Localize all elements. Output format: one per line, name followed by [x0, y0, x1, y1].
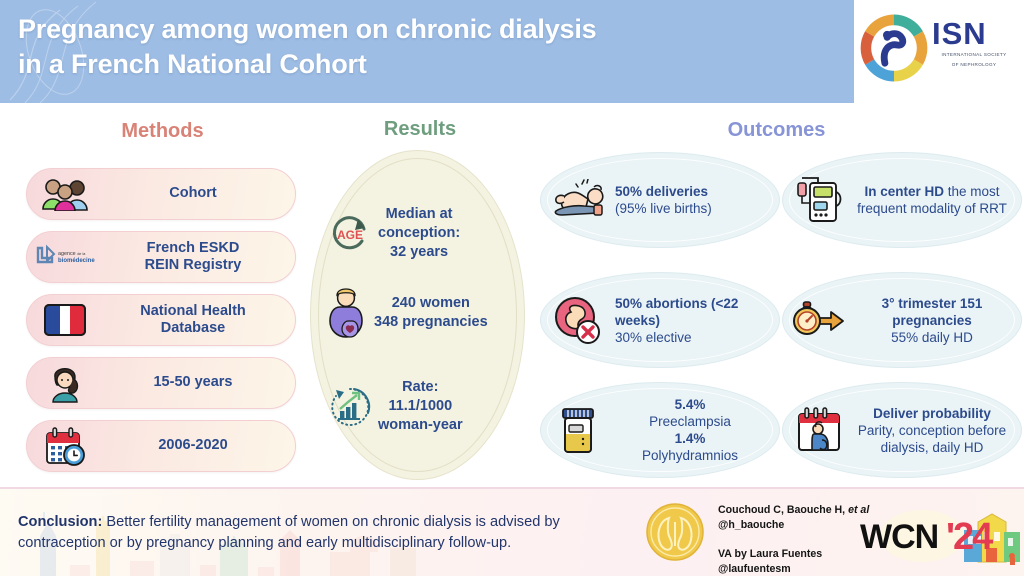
outcome-cell-deliver-probability[interactable]: Deliver probability Parity, conception b… [782, 382, 1022, 478]
methods-item-label: Cohort [103, 185, 295, 202]
pregnant-woman-icon [318, 288, 374, 338]
fetus-cancel-icon [541, 295, 615, 345]
svg-text:agence de la: agence de la [58, 251, 86, 257]
va-credit: VA by Laura Fuentes [718, 548, 822, 560]
page-title-line2: in a French National Cohort [18, 47, 698, 82]
outcome-cell-trimester[interactable]: 3° trimester 151 pregnancies 55% daily H… [782, 272, 1022, 368]
calendar-pregnant-icon [783, 407, 857, 453]
methods-item-cohort[interactable]: Cohort [26, 168, 296, 220]
isn-subtitle-line2: OF NEPHROLOGY [932, 62, 1016, 69]
isn-logo: ISN INTERNATIONAL SOCIETY OF NEPHROLOGY [856, 8, 1016, 90]
outcome-bold-text: 50% abortions (<22 weeks) [615, 296, 738, 328]
growth-chart-icon [322, 385, 378, 429]
va-handle: @laufuentesm [718, 563, 791, 575]
outcome-text: 3° trimester 151 pregnancies 55% daily H… [857, 295, 1021, 346]
outcome-bold-text: 3° trimester 151 pregnancies [882, 296, 983, 328]
page-header: Pregnancy among women on chronic dialysi… [0, 0, 1024, 103]
methods-item-database[interactable]: National Health Database [26, 294, 296, 346]
age-cycle-icon: AGE [322, 213, 378, 255]
outcome-normal-text: Parity, conception before dialysis, dail… [858, 423, 1006, 455]
isn-name: ISN [932, 18, 1018, 49]
wcn-congress-logo: WCN '24 [860, 508, 1024, 570]
kidney-emblem-icon [645, 502, 705, 562]
outcome-text: 50% abortions (<22 weeks) 30% elective [615, 295, 779, 346]
urine-sample-jar-icon [541, 406, 615, 454]
methods-column-title: Methods [60, 120, 265, 143]
french-flag-icon [27, 304, 103, 336]
authors-handle-1: @h_baouche [718, 519, 784, 531]
methods-item-registry[interactable]: agence de la biomédecine French ESKD REI… [26, 231, 296, 283]
methods-item-period[interactable]: 2006-2020 [26, 420, 296, 472]
outcome-cell-abortions[interactable]: 50% abortions (<22 weeks) 30% elective [540, 272, 780, 368]
results-item-counts: 240 women 348 pregnancies [318, 288, 524, 338]
results-item-median-age: AGE Median at conception: 32 years [322, 205, 522, 262]
isn-emblem-icon [856, 10, 932, 86]
outcome-cell-deliveries[interactable]: 50% deliveries (95% live births) [540, 152, 780, 248]
svg-text:biomédecine: biomédecine [58, 258, 95, 264]
methods-item-label: National Health Database [103, 303, 295, 337]
wcn-text: WCN [860, 518, 938, 557]
svg-text:AGE: AGE [337, 228, 363, 242]
outcome-cell-modality[interactable]: In center HD the most frequent modality … [782, 152, 1022, 248]
outcome-text: In center HD the most frequent modality … [857, 183, 1021, 217]
outcome-bold-text-2: 1.4% [675, 431, 706, 446]
outcome-normal-text-2: Polyhydramnios [642, 448, 738, 463]
woman-icon [27, 363, 103, 403]
outcome-text: 50% deliveries (95% live births) [615, 183, 779, 217]
outcome-bold-text: 5.4% [675, 397, 706, 412]
wcn-year: '24 [946, 516, 991, 559]
outcome-text: Deliver probability Parity, conception b… [857, 405, 1021, 456]
outcome-bold-text: 50% deliveries [615, 184, 708, 199]
outcome-bold-text: Deliver probability [873, 406, 991, 421]
three-people-icon [27, 177, 103, 211]
agence-biomedecine-logo-icon: agence de la biomédecine [27, 244, 103, 270]
conclusion-label: Conclusion: [18, 514, 102, 530]
results-item-label: Median at conception: 32 years [378, 205, 460, 262]
results-item-label: 240 women 348 pregnancies [374, 294, 488, 332]
outcome-bold-text: In center HD [864, 184, 944, 199]
outcome-normal-text: 55% daily HD [891, 330, 973, 345]
outcome-normal-text: 30% elective [615, 330, 692, 345]
methods-item-label: 15-50 years [103, 374, 295, 391]
methods-item-age-range[interactable]: 15-50 years [26, 357, 296, 409]
outcome-text: 5.4% Preeclampsia 1.4% Polyhydramnios [615, 396, 779, 464]
page-title: Pregnancy among women on chronic dialysi… [18, 12, 698, 81]
outcome-normal-text: (95% live births) [615, 201, 712, 216]
authors-line1: Couchoud C, Baouche H, [718, 504, 845, 516]
conclusion-text-block: Conclusion: Better fertility management … [18, 512, 618, 553]
calendar-clock-icon [27, 426, 103, 466]
outcome-cell-complications[interactable]: 5.4% Preeclampsia 1.4% Polyhydramnios [540, 382, 780, 478]
methods-item-label: French ESKD REIN Registry [103, 240, 295, 274]
outcomes-column-title: Outcomes [680, 119, 873, 142]
isn-subtitle-line1: INTERNATIONAL SOCIETY [932, 52, 1016, 59]
outcome-normal-text: Preeclampsia [649, 414, 731, 429]
results-column-title: Results [355, 118, 485, 141]
stopwatch-arrow-icon [783, 300, 857, 340]
results-item-rate: Rate: 11.1/1000 woman-year [322, 378, 522, 435]
dialysis-machine-icon [783, 174, 857, 226]
methods-item-label: 2006-2020 [103, 437, 295, 454]
page-title-line1: Pregnancy among women on chronic dialysi… [18, 12, 698, 47]
baby-in-hand-icon [541, 179, 615, 221]
results-item-label: Rate: 11.1/1000 woman-year [378, 378, 463, 435]
